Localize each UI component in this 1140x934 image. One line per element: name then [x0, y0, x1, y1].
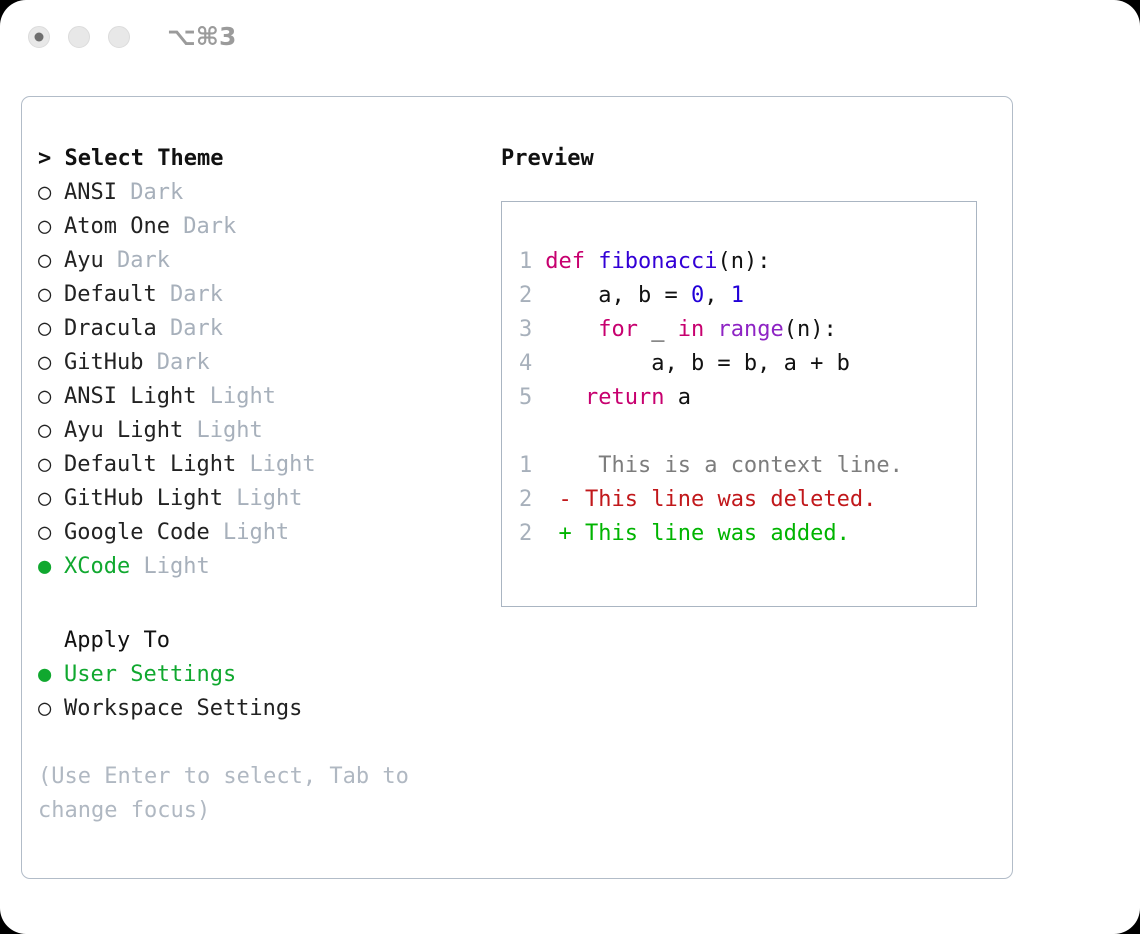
theme-option-variant: Dark — [170, 282, 223, 307]
code-token: 0 — [691, 283, 704, 308]
section-spacer — [38, 584, 488, 624]
main-panel: > Select Theme ○ANSI Dark○Atom One Dark○… — [21, 96, 1013, 879]
code-token: in — [678, 317, 705, 342]
heading-prompt-marker: > — [38, 146, 51, 171]
theme-option-name: Default — [64, 282, 157, 307]
theme-option[interactable]: ●XCode Light — [38, 550, 488, 584]
code-token — [532, 317, 598, 342]
radio-unselected-icon: ○ — [38, 482, 64, 516]
radio-unselected-icon: ○ — [38, 516, 64, 550]
panel-columns: > Select Theme ○ANSI Dark○Atom One Dark○… — [22, 97, 1012, 878]
keyboard-shortcut-label: ⌥⌘3 — [167, 22, 236, 51]
diff-sample: 1 This is a context line.2 - This line w… — [519, 449, 903, 551]
radio-unselected-icon: ○ — [38, 176, 64, 210]
code-line: 2 a, b = 0, 1 — [519, 279, 850, 313]
window-dot-3[interactable] — [108, 26, 130, 48]
code-token: (n): — [784, 317, 837, 342]
radio-unselected-icon: ○ — [38, 380, 64, 414]
theme-option-variant: Dark — [170, 316, 223, 341]
theme-option[interactable]: ○Default Dark — [38, 278, 488, 312]
theme-option-variant: Dark — [117, 248, 170, 273]
theme-option-name: ANSI Light — [64, 384, 196, 409]
preview-column: Preview 1 def fibonacci(n):2 a, b = 0, 1… — [501, 142, 1001, 607]
apply-to-option[interactable]: ○Workspace Settings — [38, 692, 488, 726]
code-token: 1 — [731, 283, 744, 308]
diff-sign: + — [532, 521, 572, 546]
code-sample: 1 def fibonacci(n):2 a, b = 0, 13 for _ … — [519, 245, 850, 415]
code-line: 5 return a — [519, 381, 850, 415]
code-token — [704, 317, 717, 342]
code-token: range — [717, 317, 783, 342]
radio-selected-icon: ● — [38, 658, 64, 692]
theme-option-name: Atom One — [64, 214, 170, 239]
diff-line: 1 This is a context line. — [519, 449, 903, 483]
code-token — [532, 385, 585, 410]
apply-to-heading: Apply To — [38, 624, 488, 658]
theme-option[interactable]: ○GitHub Dark — [38, 346, 488, 380]
diff-sign — [532, 453, 572, 478]
theme-option-variant: Light — [236, 486, 302, 511]
code-token: fibonacci — [598, 249, 717, 274]
theme-option[interactable]: ○Dracula Dark — [38, 312, 488, 346]
radio-selected-icon: ● — [38, 550, 64, 584]
theme-option[interactable]: ○GitHub Light Light — [38, 482, 488, 516]
code-line: 1 def fibonacci(n): — [519, 245, 850, 279]
theme-option-name: Ayu — [64, 248, 104, 273]
line-number: 3 — [519, 313, 532, 347]
theme-option-name: GitHub Light — [64, 486, 223, 511]
radio-unselected-icon: ○ — [38, 278, 64, 312]
theme-option-variant: Light — [249, 452, 315, 477]
theme-option[interactable]: ○Ayu Light Light — [38, 414, 488, 448]
theme-option[interactable]: ○ANSI Light Light — [38, 380, 488, 414]
code-token: _ — [638, 317, 678, 342]
diff-text: This is a context line. — [572, 453, 903, 478]
window-dot-2[interactable] — [68, 26, 90, 48]
line-number: 1 — [519, 245, 532, 279]
diff-line: 2 - This line was deleted. — [519, 483, 903, 517]
radio-unselected-icon: ○ — [38, 210, 64, 244]
app-window: ⌥⌘3 > Select Theme ○ANSI Dark○Atom One D… — [0, 0, 1140, 934]
preview-box: 1 def fibonacci(n):2 a, b = 0, 13 for _ … — [501, 201, 977, 607]
keyboard-hint-text: (Use Enter to select, Tab to change focu… — [38, 760, 438, 828]
diff-text: This line was deleted. — [572, 487, 877, 512]
theme-option-variant: Dark — [183, 214, 236, 239]
theme-option-name: GitHub — [64, 350, 143, 375]
theme-option-name: ANSI — [64, 180, 117, 205]
window-dot-active-indicator — [35, 33, 44, 42]
theme-option[interactable]: ○ANSI Dark — [38, 176, 488, 210]
diff-line-number: 2 — [519, 483, 532, 517]
code-token: def — [545, 249, 585, 274]
diff-sign: - — [532, 487, 572, 512]
radio-unselected-icon: ○ — [38, 312, 64, 346]
line-number: 4 — [519, 347, 532, 381]
code-token — [585, 249, 598, 274]
code-token: a, b = b, a + b — [532, 351, 850, 376]
apply-to-list: ●User Settings○Workspace Settings — [38, 658, 488, 726]
theme-option-variant: Light — [223, 520, 289, 545]
heading-label: Select Theme — [65, 146, 224, 171]
theme-option-variant: Light — [143, 554, 209, 579]
theme-option[interactable]: ○Ayu Dark — [38, 244, 488, 278]
code-token: for — [598, 317, 638, 342]
code-token: (n): — [717, 249, 770, 274]
diff-line-number: 2 — [519, 517, 532, 551]
theme-option-name: Ayu Light — [64, 418, 183, 443]
apply-to-option-name: User Settings — [64, 662, 236, 687]
theme-option-variant: Dark — [157, 350, 210, 375]
code-token: return — [585, 385, 664, 410]
theme-picker-column: > Select Theme ○ANSI Dark○Atom One Dark○… — [38, 142, 488, 828]
theme-option[interactable]: ○Atom One Dark — [38, 210, 488, 244]
select-theme-heading: > Select Theme — [38, 142, 488, 176]
radio-unselected-icon: ○ — [38, 244, 64, 278]
diff-line: 2 + This line was added. — [519, 517, 903, 551]
radio-unselected-icon: ○ — [38, 346, 64, 380]
code-token: , — [704, 283, 731, 308]
radio-unselected-icon: ○ — [38, 448, 64, 482]
theme-option[interactable]: ○Google Code Light — [38, 516, 488, 550]
radio-unselected-icon: ○ — [38, 414, 64, 448]
theme-option-name: Dracula — [64, 316, 157, 341]
theme-option-name: Default Light — [64, 452, 236, 477]
theme-option-name: XCode — [64, 554, 130, 579]
theme-option-name: Google Code — [64, 520, 210, 545]
apply-to-option[interactable]: ●User Settings — [38, 658, 488, 692]
apply-to-option-name: Workspace Settings — [64, 696, 302, 721]
line-number: 2 — [519, 279, 532, 313]
theme-option-variant: Light — [196, 418, 262, 443]
theme-option-variant: Light — [210, 384, 276, 409]
code-line: 4 a, b = b, a + b — [519, 347, 850, 381]
preview-heading: Preview — [501, 142, 1001, 176]
code-token: a — [664, 385, 691, 410]
code-token: a, b = — [532, 283, 691, 308]
code-line: 3 for _ in range(n): — [519, 313, 850, 347]
diff-text: This line was added. — [572, 521, 850, 546]
title-bar: ⌥⌘3 — [0, 0, 1140, 78]
code-token — [532, 249, 545, 274]
window-dot-1[interactable] — [28, 26, 50, 48]
line-number: 5 — [519, 381, 532, 415]
theme-list: ○ANSI Dark○Atom One Dark○Ayu Dark○Defaul… — [38, 176, 488, 584]
radio-unselected-icon: ○ — [38, 692, 64, 726]
theme-option[interactable]: ○Default Light Light — [38, 448, 488, 482]
theme-option-variant: Dark — [130, 180, 183, 205]
diff-line-number: 1 — [519, 449, 532, 483]
